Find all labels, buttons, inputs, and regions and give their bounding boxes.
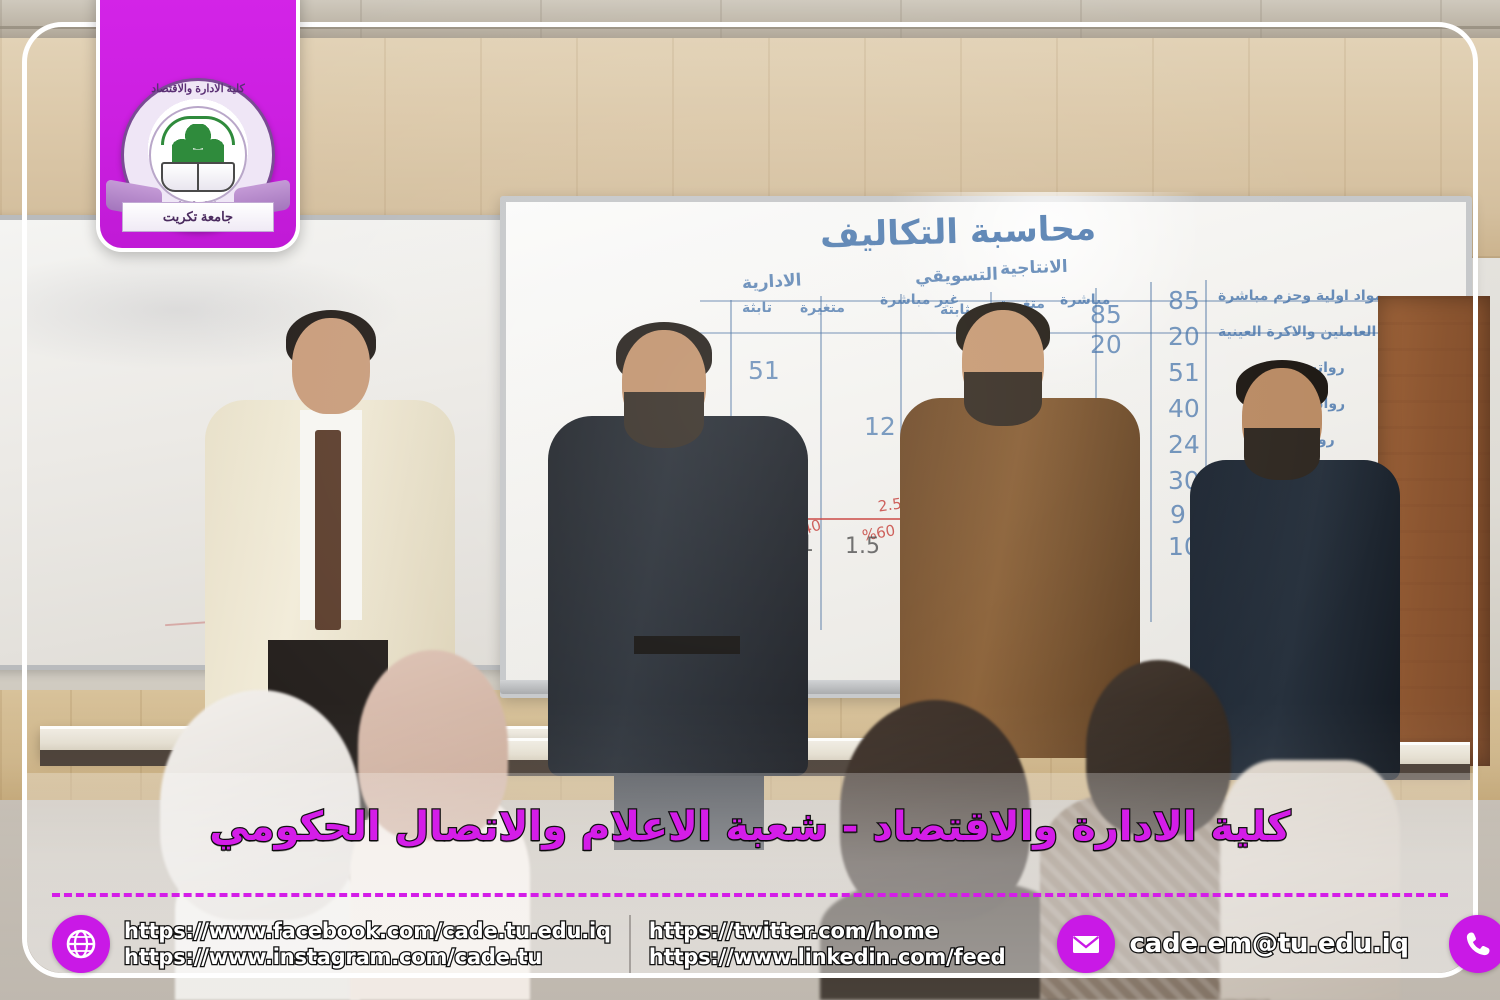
board-col-header-0: الادارية	[742, 270, 802, 293]
email-lines: cade.em@tu.edu.iq	[1129, 929, 1408, 959]
beard	[624, 392, 704, 448]
board-cell-5: 20	[1090, 330, 1122, 359]
belt	[634, 636, 740, 654]
globe-icon	[52, 915, 110, 973]
poster-root: محاسبة التكاليف الادارية التسويقي الانتا…	[0, 0, 1500, 1000]
board-col-header-1: التسويقي	[915, 265, 999, 288]
dark-blazer	[548, 416, 808, 776]
board-right-num-2: 51	[1168, 358, 1200, 387]
board-cell-4: 85	[1090, 300, 1122, 329]
linkedin-link[interactable]: https://www.linkedin.com/feed	[649, 945, 1006, 969]
board-title: محاسبة التكاليف	[820, 208, 1097, 255]
brown-tie	[315, 430, 341, 630]
phone-icon	[1449, 915, 1500, 973]
dashed-separator	[52, 893, 1448, 897]
board-right-num-1: 20	[1168, 322, 1200, 351]
board-right-label-0: مواد اولية وحزم مباشرة	[1218, 288, 1383, 304]
facebook-link[interactable]: https://www.facebook.com/cade.tu.edu.iq	[124, 919, 611, 943]
contact-divider	[629, 915, 631, 973]
email-address[interactable]: cade.em@tu.edu.iq	[1129, 929, 1408, 959]
board-col-header-2: الانتاجية	[1000, 257, 1068, 279]
social-links-2: https://twitter.com/home https://www.lin…	[649, 919, 1006, 969]
social-links: https://www.facebook.com/cade.tu.edu.iq …	[124, 919, 611, 969]
logo-banner: كلية الادارة والاقتصاد College of Admini…	[96, 0, 300, 252]
open-book-icon	[161, 162, 235, 192]
board-vline-2	[820, 296, 822, 630]
logo-ribbon: جامعة تكريت	[122, 202, 274, 232]
contact-group-phone[interactable]: 07718055128	[1449, 915, 1500, 973]
board-right-num-0: 85	[1168, 286, 1200, 315]
head	[292, 318, 370, 414]
beard	[1244, 428, 1320, 480]
page-title: كلية الادارة والاقتصاد - شعبة الاعلام وا…	[60, 806, 1440, 890]
emblem-inner	[149, 106, 247, 204]
instagram-link[interactable]: https://www.instagram.com/cade.tu	[124, 945, 611, 969]
board-right-num-6: 9	[1170, 500, 1186, 529]
twitter-link[interactable]: https://twitter.com/home	[649, 919, 1006, 943]
beard	[964, 372, 1042, 426]
contact-group-email[interactable]: cade.em@tu.edu.iq	[1057, 915, 1408, 973]
contact-group-social-2[interactable]: https://twitter.com/home https://www.lin…	[649, 919, 1006, 969]
board-right-num-3: 40	[1168, 394, 1200, 423]
board-cell-1: 12	[864, 412, 896, 441]
board-vline-6	[1150, 282, 1152, 622]
contact-group-social[interactable]: https://www.facebook.com/cade.tu.edu.iq …	[52, 915, 611, 973]
logo-ribbon-text: جامعة تكريت	[163, 209, 233, 225]
board-sub-header-0: تابثة	[742, 300, 772, 316]
board-sub-header-1: متغيرة	[800, 300, 845, 316]
board-vline-7	[1205, 280, 1207, 480]
board-right-num-4: 24	[1168, 430, 1200, 459]
envelope-icon	[1057, 915, 1115, 973]
board-black-value-1: 1.5	[845, 534, 880, 559]
board-cell-0: 51	[748, 356, 780, 385]
contact-bar: https://www.facebook.com/cade.tu.edu.iq …	[52, 904, 1448, 984]
